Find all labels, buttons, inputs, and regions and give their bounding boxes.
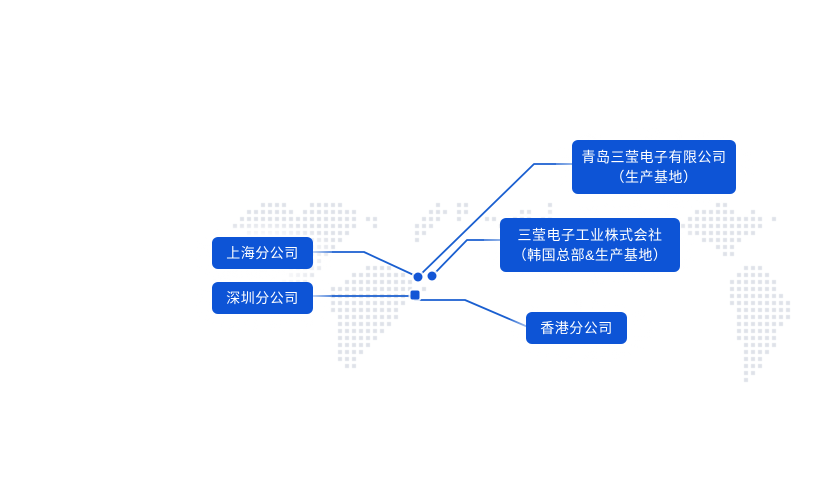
label-qingdao[interactable]: 青岛三莹电子有限公司 （生产基地） <box>572 140 736 194</box>
label-shenzhen-line1: 深圳分公司 <box>226 288 299 308</box>
global-distribution-map: 青岛三莹电子有限公司 （生产基地） 三莹电子工业株式会社 （韩国总部&生产基地）… <box>0 0 824 480</box>
connector-hongkong <box>415 300 528 327</box>
label-hongkong[interactable]: 香港分公司 <box>526 312 627 344</box>
label-qingdao-line1: 青岛三莹电子有限公司 <box>582 147 727 167</box>
label-korea-line2: （韩国总部&生产基地） <box>513 245 668 265</box>
label-shanghai[interactable]: 上海分公司 <box>212 237 313 269</box>
marker-korea[interactable] <box>428 272 437 281</box>
label-korea[interactable]: 三莹电子工业株式会社 （韩国总部&生产基地） <box>500 218 680 272</box>
label-hongkong-line1: 香港分公司 <box>540 318 613 338</box>
connector-shanghai <box>312 252 418 277</box>
label-shenzhen[interactable]: 深圳分公司 <box>212 282 313 314</box>
marker-qingdao[interactable] <box>414 273 423 282</box>
connector-korea <box>432 240 500 276</box>
connector-lines <box>0 0 824 480</box>
label-shanghai-line1: 上海分公司 <box>226 243 299 263</box>
label-qingdao-line2: （生产基地） <box>611 167 698 187</box>
marker-south-china[interactable] <box>411 291 420 300</box>
label-korea-line1: 三莹电子工业株式会社 <box>518 225 663 245</box>
